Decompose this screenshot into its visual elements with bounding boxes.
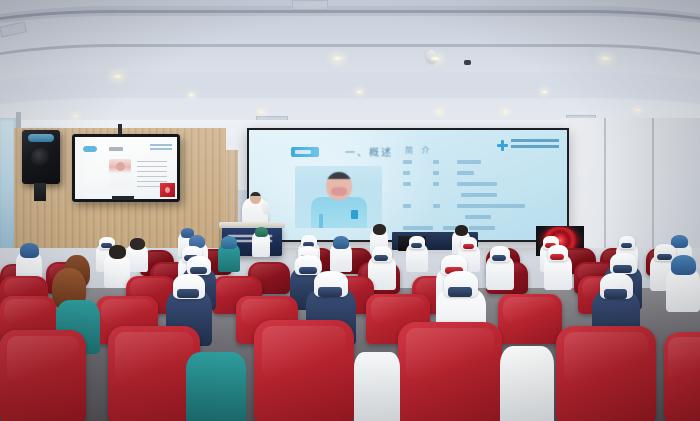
cap-bow — [374, 255, 388, 261]
audience-person — [186, 352, 246, 421]
speaker-cone-icon — [31, 148, 51, 168]
ceiling-spotlight — [600, 56, 611, 61]
smoke-detector-icon — [464, 60, 471, 65]
ceiling-spotlight — [112, 74, 123, 79]
podium-top — [219, 222, 285, 228]
projection-screen[interactable]: 一、概述 简 介 — [247, 128, 569, 242]
ceiling-spotlight — [430, 56, 441, 61]
ceiling-spotlight — [188, 93, 195, 97]
ceiling-arc-1 — [0, 0, 700, 69]
slide-surface: 一、概述 简 介 — [249, 130, 567, 240]
ceiling-spotlight — [356, 90, 363, 94]
portrait-face — [331, 187, 347, 196]
ceiling-vent — [0, 21, 27, 37]
audience-person — [330, 244, 352, 272]
audience-person — [252, 232, 270, 257]
person-coat — [186, 352, 246, 421]
slide-section-tab — [291, 147, 319, 157]
tv-slide-photo — [109, 159, 131, 189]
ceiling-vent — [292, 0, 328, 10]
medical-cross-icon — [497, 140, 508, 151]
seat — [0, 330, 86, 421]
ceiling-arc-2 — [0, 10, 700, 123]
tv-slide-logo — [150, 144, 172, 151]
cap-bow — [613, 265, 632, 273]
seat — [556, 326, 656, 421]
scrub-cap — [255, 227, 268, 237]
ceiling-spotlight — [502, 110, 509, 114]
ceiling-spotlight — [436, 110, 443, 114]
seat — [498, 294, 562, 344]
ceiling-spotlight — [258, 110, 265, 114]
portrait-stripe — [319, 214, 323, 228]
wall-mounted-tv[interactable] — [72, 134, 180, 202]
tv-screen — [75, 137, 177, 199]
seat — [398, 322, 502, 421]
auditorium-photo: 一、概述 简 介 — [0, 0, 700, 421]
speaker-mount — [34, 183, 46, 201]
scrub-cap — [20, 243, 39, 258]
cap-bow — [492, 255, 506, 261]
ceiling-spotlight — [332, 56, 343, 61]
cap-bow — [411, 243, 422, 248]
cap-bow — [299, 267, 317, 274]
ceiling-spotlight — [72, 114, 79, 118]
tv-base — [112, 196, 134, 200]
cap-bow — [550, 254, 564, 260]
slide-heading: 一、概述 — [345, 144, 393, 159]
tv-slide-tab — [83, 146, 97, 152]
audience-person — [666, 268, 700, 312]
audience-person — [354, 352, 400, 421]
person-head — [455, 225, 468, 236]
audience-person — [406, 244, 428, 272]
cap-bow — [177, 289, 199, 298]
presenter-head — [250, 192, 261, 204]
ceiling-spotlight — [634, 108, 641, 112]
slide-portrait-photo — [295, 166, 382, 228]
person-head — [373, 224, 386, 235]
cap-bow — [621, 243, 632, 248]
audience-person — [500, 346, 554, 421]
person-coat — [500, 346, 554, 421]
cap-bow — [448, 287, 472, 297]
audience-person — [218, 244, 240, 272]
cap-bow — [604, 289, 627, 299]
audience-person — [486, 256, 514, 290]
person-coat — [354, 352, 400, 421]
slide-logo-text — [511, 139, 559, 151]
scrub-cap — [221, 236, 237, 249]
slide-institution-logo — [497, 138, 559, 152]
portrait-badge — [351, 210, 358, 219]
tv-corner-logo-icon — [160, 183, 175, 197]
cap-bow — [657, 254, 672, 260]
slide-detail-column: 简 介 — [401, 144, 551, 232]
person-head — [109, 245, 126, 259]
cap-bow — [463, 244, 474, 249]
scrub-cap — [671, 255, 696, 275]
slide-column-title: 简 介 — [405, 145, 433, 156]
tv-slide-title — [109, 147, 123, 151]
ceiling-spotlight — [541, 90, 548, 94]
audience-person — [544, 255, 572, 290]
person-head — [130, 238, 145, 250]
speaker-badge — [28, 134, 54, 142]
wall-speaker — [22, 130, 60, 184]
cap-bow — [318, 287, 342, 297]
seat — [664, 332, 700, 421]
scrub-cap — [333, 236, 349, 249]
cap-bow — [190, 267, 207, 274]
seat — [254, 320, 354, 421]
